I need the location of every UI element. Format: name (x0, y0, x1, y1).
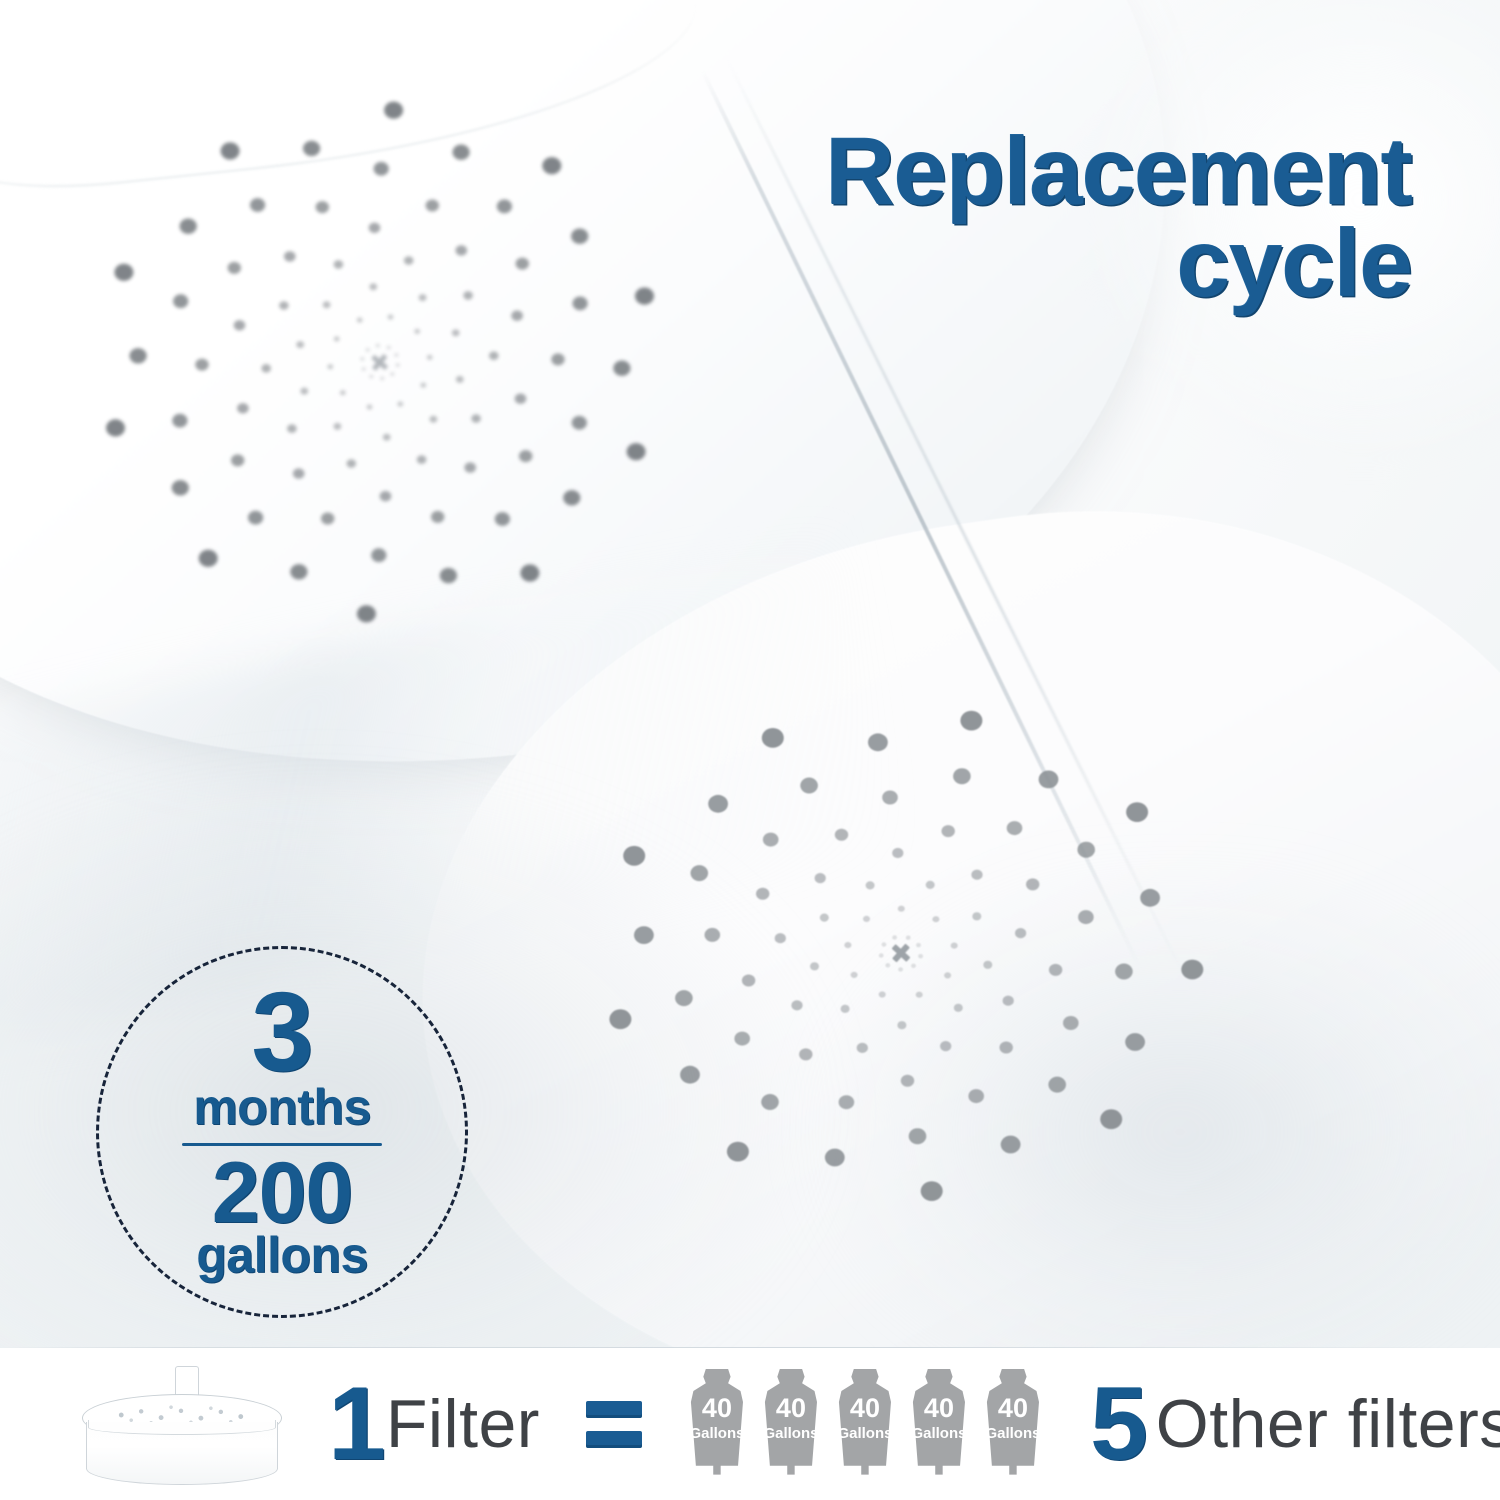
equals-bar-bottom (586, 1431, 642, 1448)
competitor-filter-list: 40 Gallons 40 Gallons 40 Gallons 40 Gall… (686, 1369, 1056, 1479)
badge-capacity-unit: gallons (196, 1230, 368, 1280)
comparison-bar: 1 Filter 40 Gallons 40 Gallons 40 Gallon… (0, 1348, 1500, 1500)
product-filter-group: 1 Filter (328, 1372, 540, 1476)
equals-bar-top (586, 1401, 642, 1418)
competitor-filter-unit: Gallons (985, 1426, 1040, 1441)
competitor-filter-shape (908, 1369, 970, 1479)
nozzle-center-cross-upper (371, 354, 388, 371)
badge-capacity-value: 200 (212, 1155, 353, 1232)
competitor-filter-shape (834, 1369, 896, 1479)
replacement-cycle-badge: 3 months 200 gallons (96, 946, 468, 1318)
competitor-filter-unit: Gallons (911, 1426, 966, 1441)
badge-duration-value: 3 (251, 984, 312, 1080)
competitor-filter-icon: 40 Gallons (686, 1369, 748, 1479)
water-filter-cartridge-icon (78, 1364, 286, 1484)
competitor-label: Other filters (1156, 1390, 1500, 1458)
product-marketing-image: Replacement cycle 3 months 200 gallons 1… (0, 0, 1500, 1500)
competitor-filter-icon: 40 Gallons (834, 1369, 896, 1479)
competitor-filter-value: 40 (998, 1395, 1028, 1422)
competitor-filter-shape (982, 1369, 1044, 1479)
competitor-filter-shape (686, 1369, 748, 1479)
nozzle-pattern-lower (520, 630, 1280, 1060)
badge-duration-unit: months (193, 1082, 371, 1132)
competitor-filter-unit: Gallons (689, 1426, 744, 1441)
competitor-filter-icon: 40 Gallons (982, 1369, 1044, 1479)
competitor-filter-icon: 40 Gallons (760, 1369, 822, 1479)
competitor-filter-value: 40 (924, 1395, 954, 1422)
competitor-filter-value: 40 (702, 1395, 732, 1422)
cartridge-seam-ring (88, 1420, 276, 1435)
competitor-count: 5 (1090, 1372, 1146, 1476)
competitor-filter-value: 40 (776, 1395, 806, 1422)
competitor-filter-icon: 40 Gallons (908, 1369, 970, 1479)
nozzle-center-cross-lower (892, 944, 911, 963)
competitor-filter-shape (760, 1369, 822, 1479)
product-count: 1 (328, 1372, 384, 1476)
equals-sign-icon (586, 1401, 642, 1448)
competitor-filter-unit: Gallons (837, 1426, 892, 1441)
page-title: Replacement cycle (825, 126, 1412, 310)
competitor-filter-unit: Gallons (763, 1426, 818, 1441)
product-label: Filter (386, 1390, 540, 1458)
nozzle-pattern-upper (0, 110, 760, 710)
competitor-filter-value: 40 (850, 1395, 880, 1422)
competitor-summary-group: 5 Other filters (1090, 1372, 1500, 1476)
